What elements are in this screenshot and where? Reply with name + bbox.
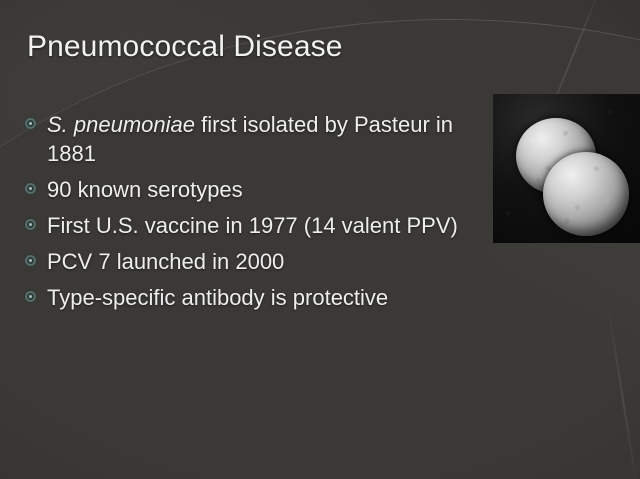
list-item-text: S. pneumoniae first isolated by Pasteur … xyxy=(47,110,480,168)
list-item-text: PCV 7 launched in 2000 xyxy=(47,247,284,276)
pneumococcus-electron-micrograph xyxy=(493,94,640,243)
target-bullet-icon xyxy=(25,219,36,230)
target-bullet-icon xyxy=(25,183,36,194)
slide-title: Pneumococcal Disease xyxy=(27,27,343,67)
italic-species-name: S. pneumoniae xyxy=(47,112,195,137)
coccus-cell-lower xyxy=(543,152,629,236)
list-item: PCV 7 launched in 2000 xyxy=(25,247,480,276)
bullet-list: S. pneumoniae first isolated by Pasteur … xyxy=(25,110,480,319)
list-item: First U.S. vaccine in 1977 (14 valent PP… xyxy=(25,211,480,240)
list-item: 90 known serotypes xyxy=(25,175,480,204)
list-item-text: 90 known serotypes xyxy=(47,175,243,204)
coccus-surface-texture xyxy=(543,152,629,236)
list-item: S. pneumoniae first isolated by Pasteur … xyxy=(25,110,480,168)
list-item-text: Type-specific antibody is protective xyxy=(47,283,388,312)
list-item-text: First U.S. vaccine in 1977 (14 valent PP… xyxy=(47,211,458,240)
target-bullet-icon xyxy=(25,118,36,129)
presentation-slide: Pneumococcal Disease S. pneumoniae first… xyxy=(0,0,640,479)
list-item: Type-specific antibody is protective xyxy=(25,283,480,312)
target-bullet-icon xyxy=(25,291,36,302)
target-bullet-icon xyxy=(25,255,36,266)
